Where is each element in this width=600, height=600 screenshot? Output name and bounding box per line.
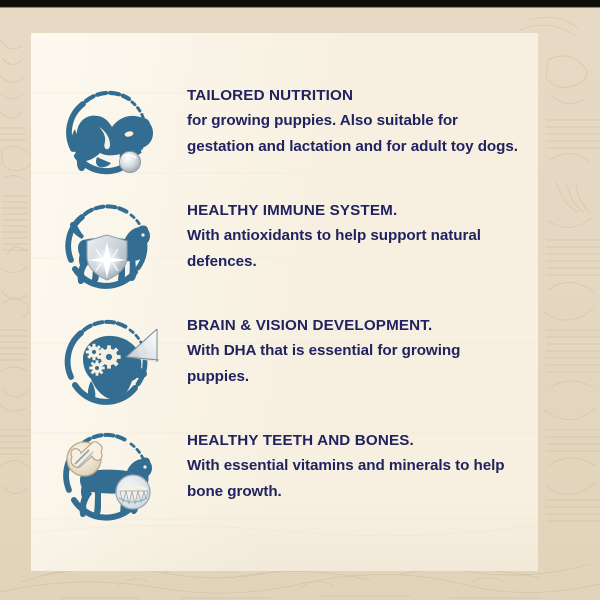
benefit-line: for growing puppies. Also suitable for — [187, 108, 527, 134]
benefit-line: With essential vitamins and minerals to … — [187, 453, 527, 479]
benefit-line: bone growth. — [187, 479, 527, 505]
benefit-text: BRAIN & VISION DEVELOPMENT. With DHA tha… — [187, 305, 527, 389]
benefits-panel-screenshot: TAILORED NUTRITION for growing puppies. … — [0, 0, 600, 600]
benefit-line: gestation and lactation and for adult to… — [187, 134, 527, 160]
benefit-line: puppies. — [187, 364, 527, 390]
benefit-text: TAILORED NUTRITION for growing puppies. … — [187, 75, 527, 159]
benefit-text: HEALTHY IMMUNE SYSTEM. With antioxidants… — [187, 190, 527, 274]
benefit-line: defences. — [187, 249, 527, 275]
top-dark-strip — [0, 0, 600, 7]
benefit-heading: HEALTHY IMMUNE SYSTEM. — [187, 198, 527, 223]
benefit-row: HEALTHY IMMUNE SYSTEM. With antioxidants… — [31, 190, 538, 302]
benefit-row: HEALTHY TEETH AND BONES. With essential … — [31, 420, 538, 532]
benefit-rows: TAILORED NUTRITION for growing puppies. … — [31, 33, 538, 571]
benefit-line: With DHA that is essential for growing — [187, 338, 527, 364]
benefit-heading: TAILORED NUTRITION — [187, 83, 527, 108]
puppy-with-ball-icon — [53, 77, 163, 187]
dog-with-bone-and-teeth-icon — [53, 422, 163, 532]
benefit-heading: BRAIN & VISION DEVELOPMENT. — [187, 313, 527, 338]
benefit-line: With antioxidants to help support natura… — [187, 223, 527, 249]
benefit-heading: HEALTHY TEETH AND BONES. — [187, 428, 527, 453]
benefit-text: HEALTHY TEETH AND BONES. With essential … — [187, 420, 527, 504]
dog-head-with-gears-icon — [53, 307, 163, 417]
benefit-row: TAILORED NUTRITION for growing puppies. … — [31, 75, 538, 187]
dog-with-shield-icon — [53, 192, 163, 302]
benefit-row: BRAIN & VISION DEVELOPMENT. With DHA tha… — [31, 305, 538, 417]
